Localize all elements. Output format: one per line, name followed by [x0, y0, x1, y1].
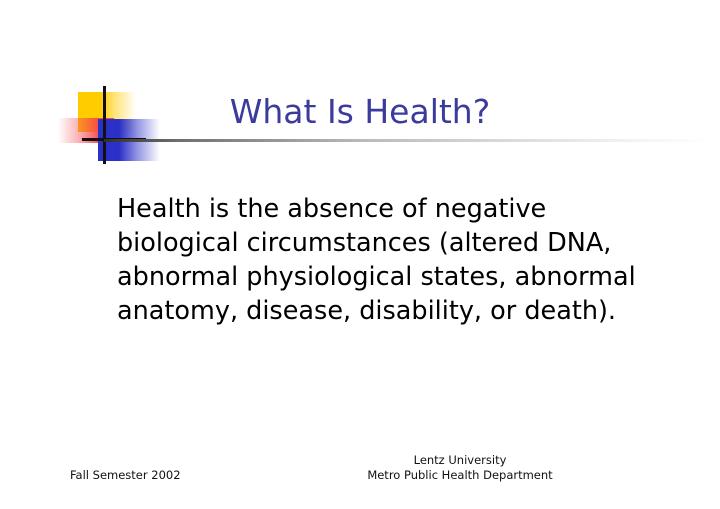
slide-body: Health is the absence of negative biolog…	[117, 192, 662, 328]
body-line: anatomy, disease, disability, or death).	[117, 294, 662, 328]
vertical-line-icon	[103, 86, 106, 164]
footer-organization: Lentz University Metro Public Health Dep…	[260, 453, 660, 483]
body-line: abnormal physiological states, abnormal	[117, 260, 662, 294]
footer-semester: Fall Semester 2002	[70, 468, 181, 483]
footer-department-name: Metro Public Health Department	[260, 468, 660, 483]
body-line: biological circumstances (altered DNA,	[117, 226, 662, 260]
slide-canvas: What Is Health? Health is the absence of…	[0, 0, 720, 509]
slide-title: What Is Health?	[150, 92, 570, 132]
body-line: Health is the absence of negative	[117, 192, 662, 226]
footer-university-name: Lentz University	[260, 453, 660, 468]
title-divider	[104, 139, 712, 142]
